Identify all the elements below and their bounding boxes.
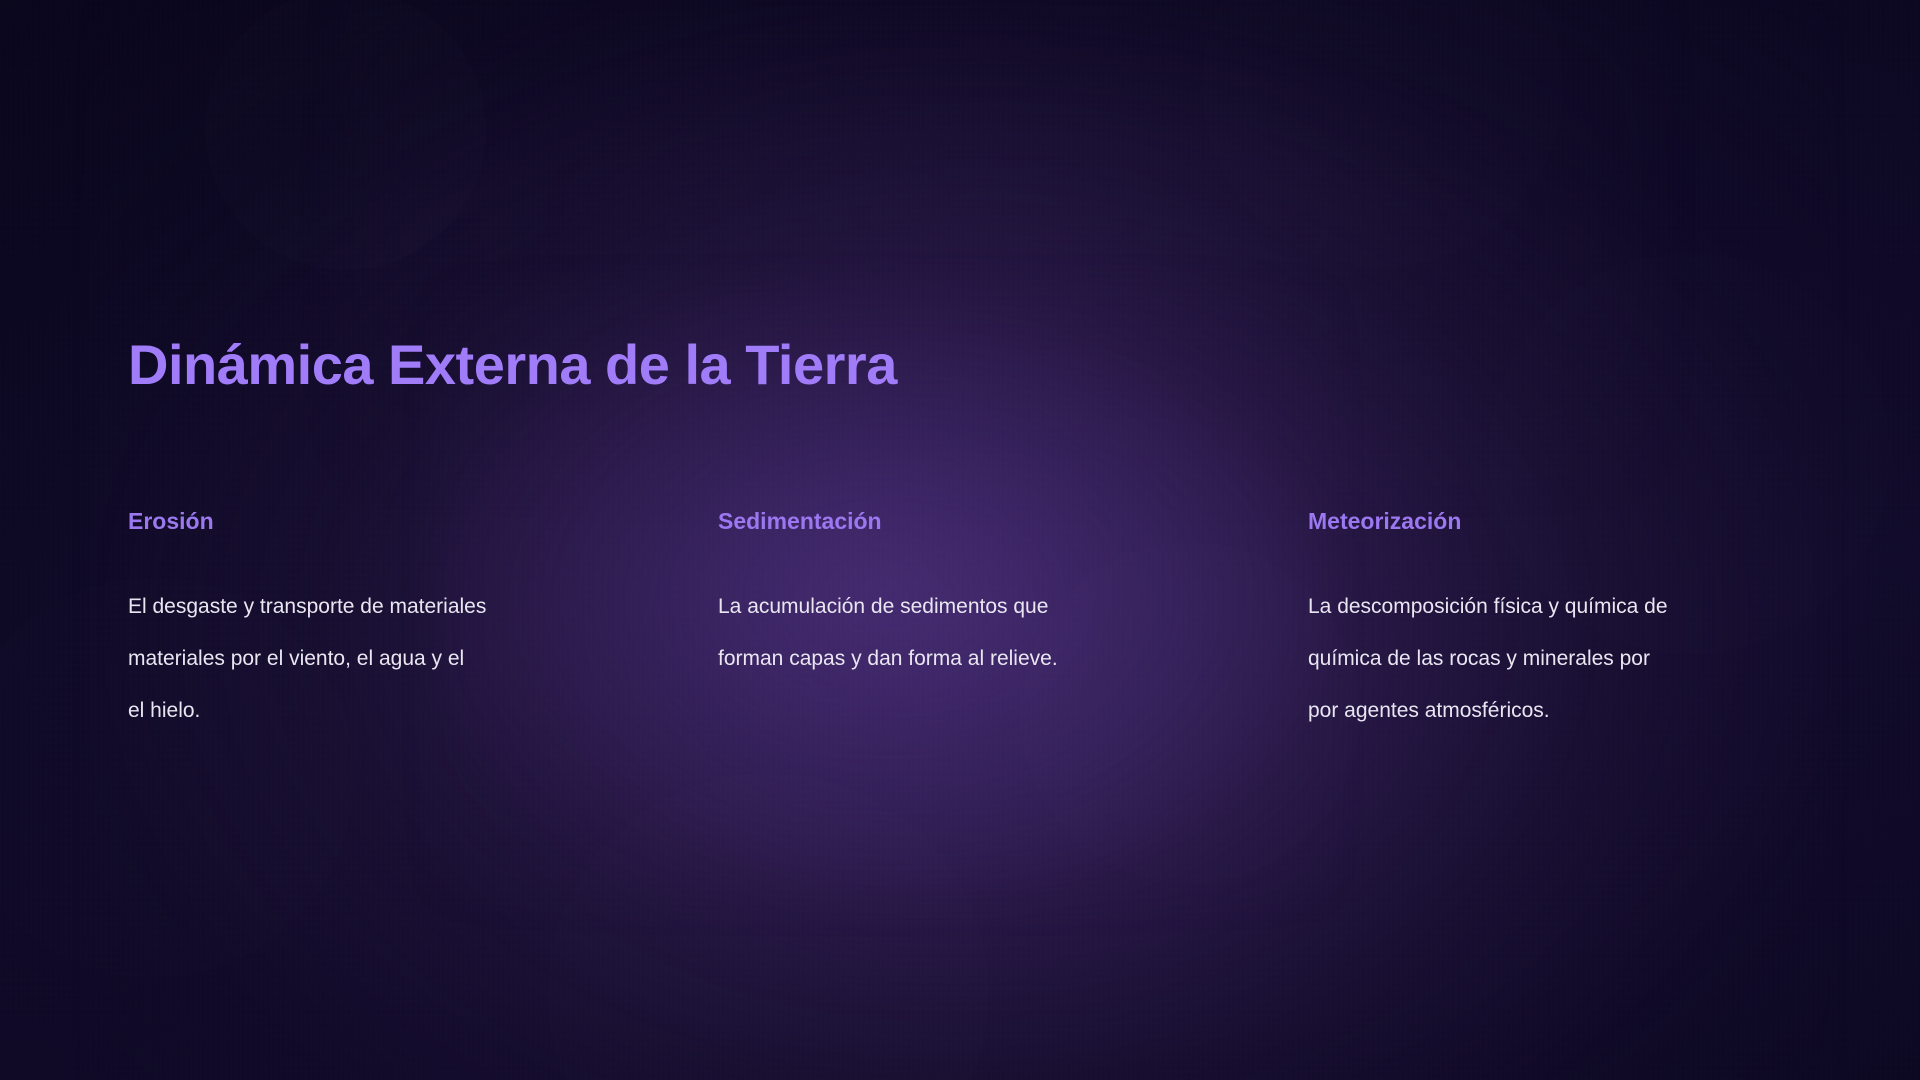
presentation-slide: Dinámica Externa de la Tierra Erosión El… <box>0 0 1920 1080</box>
body-line: La descomposición física y química de <box>1308 581 1788 633</box>
concept-body-sedimentacion: La acumulación de sedimentos que forman … <box>718 581 1198 685</box>
concept-heading-erosion: Erosión <box>128 508 608 536</box>
concept-heading-sedimentacion: Sedimentación <box>718 508 1198 536</box>
concept-columns: Erosión El desgaste y transporte de mate… <box>128 508 1808 737</box>
body-line: por agentes atmosféricos. <box>1308 685 1788 737</box>
body-line: el hielo. <box>128 685 608 737</box>
body-line: forman capas y dan forma al relieve. <box>718 633 1198 685</box>
concept-column-erosion: Erosión El desgaste y transporte de mate… <box>128 508 608 737</box>
slide-content: Dinámica Externa de la Tierra Erosión El… <box>0 0 1920 1080</box>
concept-body-erosion: El desgaste y transporte de materiales m… <box>128 581 608 737</box>
body-line: química de las rocas y minerales por <box>1308 633 1788 685</box>
concept-column-sedimentacion: Sedimentación La acumulación de sediment… <box>718 508 1198 685</box>
concept-heading-meteorizacion: Meteorización <box>1308 508 1788 536</box>
body-line: El desgaste y transporte de materiales <box>128 581 608 633</box>
concept-body-meteorizacion: La descomposición física y química de qu… <box>1308 581 1788 737</box>
body-line: materiales por el viento, el agua y el <box>128 633 608 685</box>
concept-column-meteorizacion: Meteorización La descomposición física y… <box>1308 508 1788 737</box>
body-line: La acumulación de sedimentos que <box>718 581 1198 633</box>
slide-title: Dinámica Externa de la Tierra <box>128 333 897 397</box>
